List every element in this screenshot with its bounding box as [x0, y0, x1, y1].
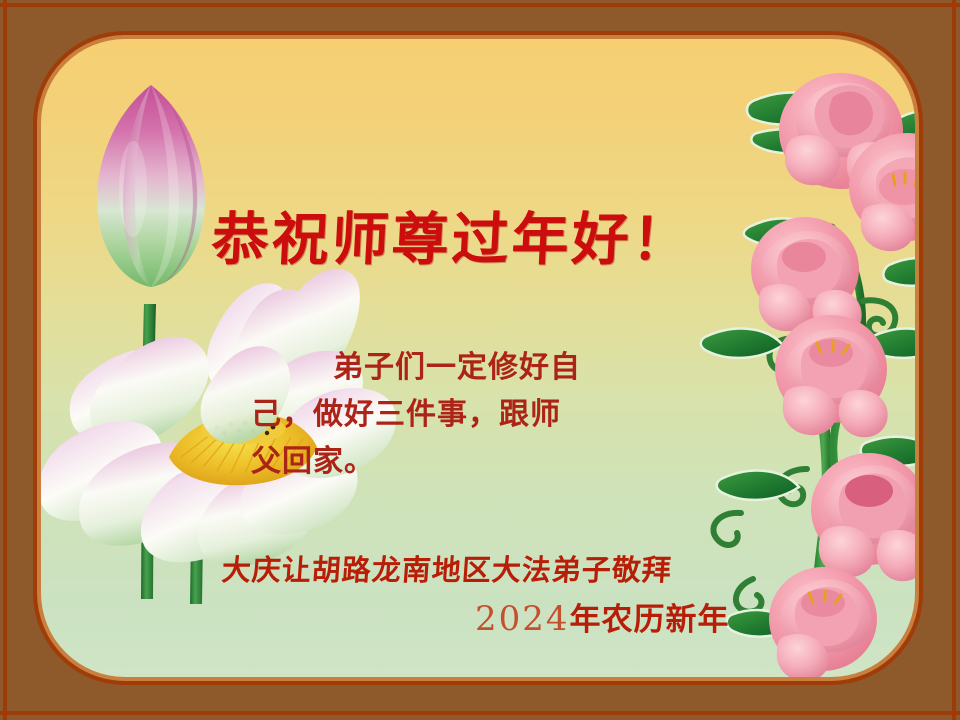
- card-face: 恭祝师尊过年好！ 弟子们一定修好自 己，做好三件事，跟师 父回家。 大庆让胡路龙…: [41, 39, 915, 677]
- date-suffix: 年农历新年: [570, 602, 730, 638]
- speck-artifact: [109, 218, 113, 221]
- frame-line-top: [0, 3, 960, 7]
- signature-line: 大庆让胡路龙南地区大法弟子敬拜: [221, 547, 674, 589]
- body-line-1: 弟子们一定修好自: [251, 344, 671, 391]
- body-line-2: 己，做好三件事，跟师: [251, 391, 671, 438]
- date-year: 2024: [475, 599, 570, 639]
- greeting-title: 恭祝师尊过年好！: [210, 194, 694, 276]
- frame-line-right: [952, 0, 956, 720]
- date-line: 2024年农历新年: [475, 594, 730, 639]
- greeting-card: 恭祝师尊过年好！ 弟子们一定修好自 己，做好三件事，跟师 父回家。 大庆让胡路龙…: [0, 0, 960, 720]
- greeting-body: 弟子们一定修好自 己，做好三件事，跟师 父回家。: [251, 344, 671, 485]
- frame-line-bottom: [0, 711, 960, 715]
- frame-line-left: [3, 0, 7, 720]
- body-line-3: 父回家。: [251, 438, 671, 485]
